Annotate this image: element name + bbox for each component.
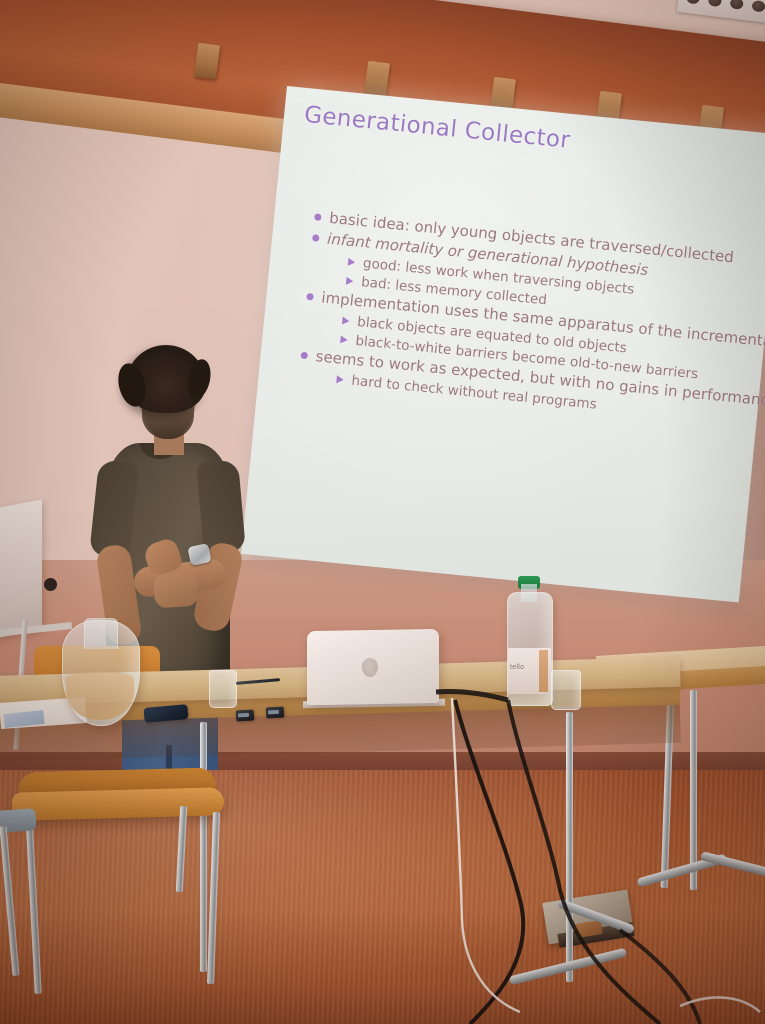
video-adapter-icon — [266, 707, 285, 719]
side-table-leg — [690, 690, 697, 890]
bullet-dot-icon — [314, 213, 322, 221]
bottle-label: tello — [508, 648, 551, 694]
drinking-glass-right — [551, 670, 581, 710]
bullet-triangle-icon — [348, 257, 356, 266]
bullet-triangle-icon — [346, 276, 354, 285]
bullet-dot-icon — [300, 351, 308, 359]
vent-hole — [686, 0, 700, 4]
main-table-leg — [200, 722, 207, 972]
adapter-pins — [238, 713, 249, 718]
bullet-dot-icon — [312, 234, 320, 242]
bullet-triangle-icon — [340, 335, 348, 344]
bullet-triangle-icon — [336, 375, 344, 384]
slide-bullet-list: basic idea: only young objects are trave… — [298, 207, 765, 431]
apple-logo-icon — [362, 658, 378, 677]
slide-title: Generational Collector — [303, 102, 571, 154]
beam-peg — [364, 61, 390, 97]
projection-screen: Generational Collector basic idea: only … — [241, 86, 765, 603]
main-table-leg — [566, 712, 573, 982]
vga-adapter-icon — [236, 710, 255, 722]
presenter-hair — [126, 345, 206, 413]
presenter-sleeve-right — [196, 459, 246, 554]
adapter-pins — [268, 710, 279, 715]
vent-hole — [708, 0, 722, 7]
bottle-label-stripe — [539, 650, 548, 692]
bottle-label-text: tello — [510, 664, 550, 671]
wall-knob — [44, 578, 57, 591]
presentation-room-photo: Generational Collector basic idea: only … — [0, 0, 765, 1024]
vent-hole — [751, 0, 765, 12]
bullet-dot-icon — [306, 293, 314, 301]
chair-seat-front — [12, 787, 225, 821]
bullet-triangle-icon — [342, 316, 350, 325]
drinking-glass-left — [209, 670, 237, 708]
flipchart-paper — [0, 499, 42, 640]
vent-hole — [730, 0, 744, 10]
presenter-hand-right — [153, 572, 199, 609]
beam-peg — [194, 43, 220, 79]
